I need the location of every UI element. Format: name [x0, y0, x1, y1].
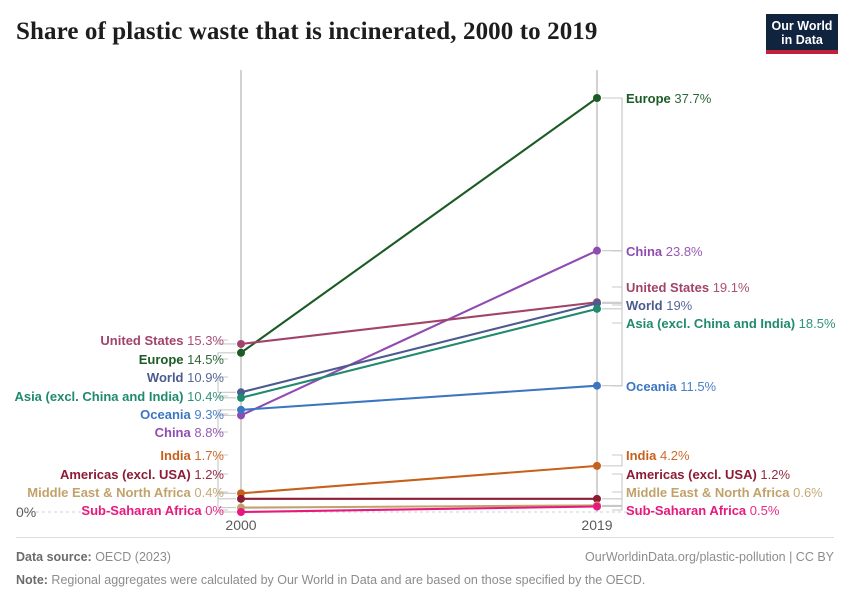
label-connector: [602, 323, 622, 386]
series-endpoint-dot[interactable]: [593, 94, 601, 102]
right-label-china[interactable]: China 23.8%: [626, 245, 703, 258]
data-source: Data source: OECD (2023): [16, 550, 171, 564]
series-endpoint-dot[interactable]: [593, 247, 601, 255]
x-tick-2019: 2019: [581, 517, 612, 533]
data-source-value: OECD (2023): [92, 550, 171, 564]
chart-note: Note: Regional aggregates were calculate…: [16, 573, 645, 587]
right-label-world[interactable]: World 19%: [626, 299, 692, 312]
series-line: [241, 98, 597, 353]
label-connector: [602, 98, 622, 251]
label-connector: [602, 251, 622, 386]
series-endpoint-dot[interactable]: [237, 394, 245, 402]
series-line: [241, 303, 597, 392]
left-label-oceania[interactable]: Oceania 9.3%: [140, 408, 224, 421]
footer-divider: [16, 537, 834, 538]
label-connector: [602, 507, 622, 510]
label-connector: [602, 98, 622, 302]
right-label-middle-east-north-africa[interactable]: Middle East & North Africa 0.6%: [626, 486, 823, 499]
right-label-asia[interactable]: Asia (excl. China and India) 18.5%: [626, 317, 836, 330]
left-label-india[interactable]: India 1.7%: [160, 449, 224, 462]
right-label-united-states[interactable]: United States 19.1%: [626, 281, 750, 294]
left-label-china[interactable]: China 8.8%: [155, 426, 224, 439]
right-label-india[interactable]: India 4.2%: [626, 449, 690, 462]
left-label-united-states[interactable]: United States 15.3%: [100, 334, 224, 347]
chart-page: Share of plastic waste that is incinerat…: [0, 0, 850, 600]
y-axis-zero-label: 0%: [16, 504, 36, 520]
gridlines: [18, 70, 690, 512]
series-endpoint-dots: [237, 94, 601, 516]
source-url[interactable]: OurWorldinData.org/plastic-pollution | C…: [585, 550, 834, 564]
series-endpoint-dot[interactable]: [237, 495, 245, 503]
left-label-world[interactable]: World 10.9%: [147, 371, 224, 384]
series-line: [241, 466, 597, 493]
right-label-europe[interactable]: Europe 37.7%: [626, 92, 711, 105]
left-label-asia[interactable]: Asia (excl. China and India) 10.4%: [14, 390, 224, 403]
series-endpoint-dot[interactable]: [593, 382, 601, 390]
series-endpoint-dot[interactable]: [237, 508, 245, 516]
series-endpoint-dot[interactable]: [593, 462, 601, 470]
left-label-americas[interactable]: Americas (excl. USA) 1.2%: [60, 468, 224, 481]
series-endpoint-dot[interactable]: [237, 340, 245, 348]
series-lines: [241, 98, 597, 512]
series-endpoint-dot[interactable]: [593, 503, 601, 511]
label-connector: [602, 305, 622, 309]
label-connector: [602, 287, 622, 303]
note-label: Note:: [16, 573, 48, 587]
right-label-americas[interactable]: Americas (excl. USA) 1.2%: [626, 468, 790, 481]
series-line: [241, 251, 597, 416]
x-tick-2000: 2000: [225, 517, 256, 533]
left-label-sub-saharan-africa[interactable]: Sub-Saharan Africa 0%: [81, 504, 224, 517]
series-line: [241, 386, 597, 410]
note-value: Regional aggregates were calculated by O…: [48, 573, 645, 587]
chart-plot-area: 2000 2019 0% United States 15.3% Europe …: [0, 0, 850, 600]
series-endpoint-dot[interactable]: [237, 349, 245, 357]
series-endpoint-dot[interactable]: [237, 406, 245, 414]
left-label-middle-east-north-africa[interactable]: Middle East & North Africa 0.4%: [27, 486, 224, 499]
left-label-europe[interactable]: Europe 14.5%: [139, 353, 224, 366]
series-endpoint-dot[interactable]: [593, 305, 601, 313]
label-connectors: [218, 98, 622, 512]
right-label-oceania[interactable]: Oceania 11.5%: [626, 380, 716, 393]
label-connector: [602, 474, 622, 499]
data-source-label: Data source:: [16, 550, 92, 564]
label-connector: [602, 455, 622, 466]
right-label-sub-saharan-africa[interactable]: Sub-Saharan Africa 0.5%: [626, 504, 779, 517]
